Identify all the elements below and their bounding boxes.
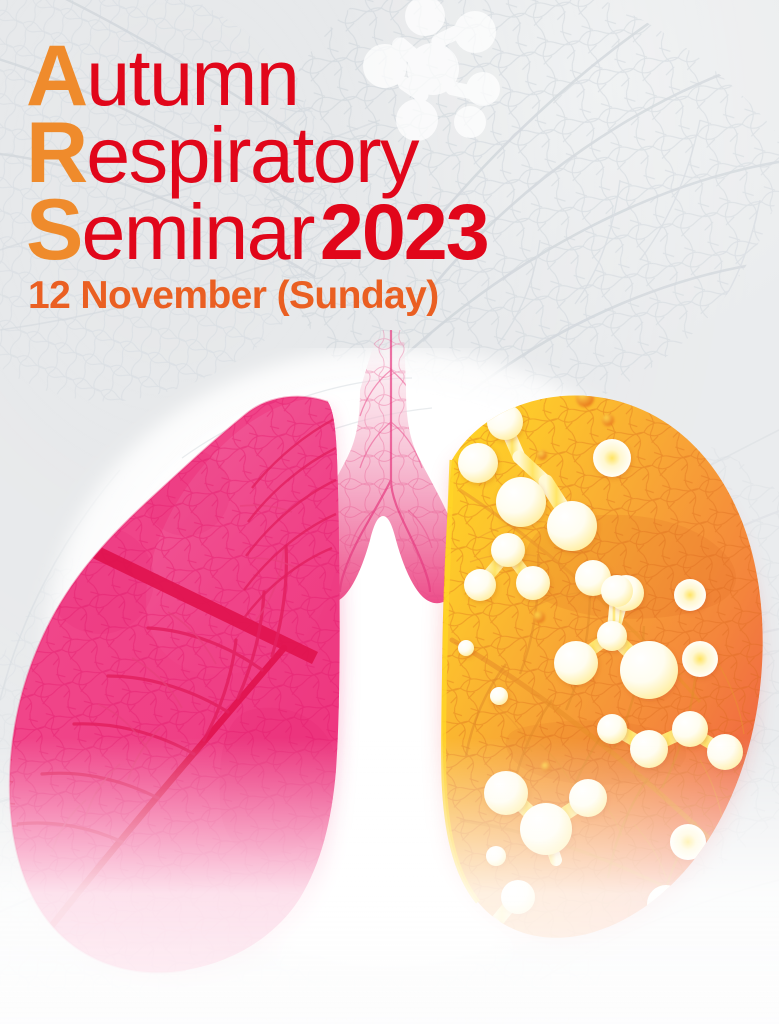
title-initial-s: S	[26, 182, 81, 278]
poster-canvas: Autumn Respiratory Seminar2023 12 Novemb…	[0, 0, 779, 1024]
event-date: 12 November (Sunday)	[28, 276, 646, 315]
lung-illustration	[0, 330, 779, 1024]
title-line-respiratory: Respiratory	[26, 113, 646, 193]
title-rest-respiratory: espiratory	[86, 110, 418, 199]
headline-block: Autumn Respiratory Seminar2023 12 Novemb…	[26, 36, 646, 315]
title-line-autumn: Autumn	[26, 36, 646, 116]
title-line-seminar: Seminar2023	[26, 190, 646, 270]
title-year: 2023	[320, 187, 488, 276]
title-rest-autumn: utumn	[86, 33, 298, 122]
title-rest-seminar: eminar	[81, 187, 313, 276]
